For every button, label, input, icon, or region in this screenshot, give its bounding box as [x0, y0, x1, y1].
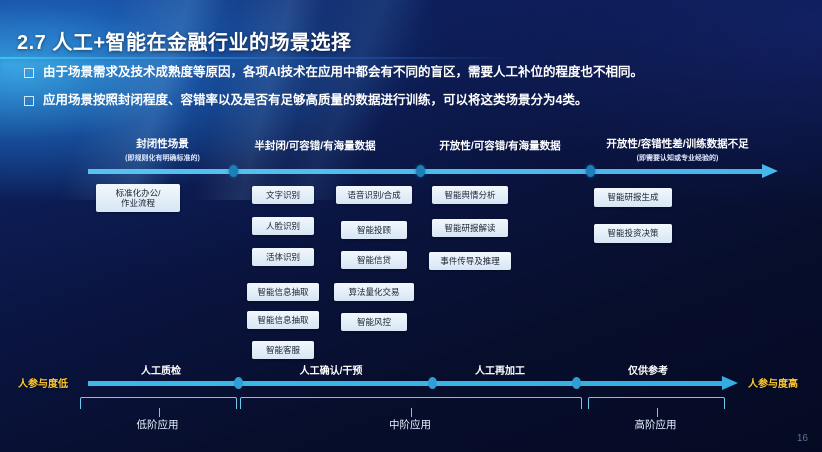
bullet-item: 应用场景按照封闭程度、容错率以及是否有足够高质量的数据进行训练，可以将这类场景分…	[22, 92, 812, 108]
scenario-chip-label: 活体识别	[266, 252, 300, 263]
column-header-title: 开放性/可容错/有海量数据	[410, 138, 590, 153]
scenario-chip[interactable]: 智能风控	[341, 313, 407, 331]
arrow-head-icon	[762, 164, 778, 178]
scenario-chip-label: 智能研报生成	[607, 192, 658, 203]
scenario-chip-label: 算法量化交易	[348, 287, 399, 298]
scenario-chip[interactable]: 活体识别	[252, 248, 314, 266]
tier-brace	[588, 397, 725, 409]
scenario-chip-label: 智能研报解读	[444, 223, 495, 234]
bullet-square-icon	[24, 96, 34, 106]
scenario-chip-label: 文字识别	[266, 190, 300, 201]
scenario-chip[interactable]: 智能信息抽取	[247, 311, 319, 329]
column-header-closed: 封闭性场景 (即规则化有明确标准的)	[95, 136, 230, 163]
tier-brace	[240, 397, 582, 409]
stage-label: 人工质检	[88, 362, 234, 377]
bullet-square-icon	[24, 68, 34, 78]
scenario-chip-label: 智能信贷	[357, 255, 391, 266]
scenario-chip[interactable]: 智能投资决策	[594, 224, 672, 243]
axis-divider-dot	[572, 377, 581, 389]
axis-label-high: 人参与度高	[748, 375, 798, 390]
scenario-chip[interactable]: 算法量化交易	[334, 283, 414, 301]
axis-divider-dot	[234, 377, 243, 389]
scenario-chip[interactable]: 智能投顾	[341, 221, 407, 239]
axis-divider-dot	[428, 377, 437, 389]
tier-brace-stem	[657, 408, 658, 417]
column-header-open-intolerant: 开放性/容错性差/训练数据不足 (即需要认知或专业经验的)	[570, 136, 785, 163]
scenario-chip[interactable]: 人脸识别	[252, 217, 314, 235]
column-header-title: 半封闭/可容错/有海量数据	[225, 138, 405, 153]
page-title: 2.7 人工+智能在金融行业的场景选择	[17, 26, 352, 55]
scenario-chip[interactable]: 文字识别	[252, 186, 314, 204]
scenario-chip[interactable]: 智能信息抽取	[247, 283, 319, 301]
scenario-chip-label: 人脸识别	[266, 221, 300, 232]
scenario-chip[interactable]: 智能研报解读	[432, 219, 508, 237]
arrow-divider-dot	[586, 165, 595, 177]
bullet-item: 由于场景需求及技术成熟度等原因，各项AI技术在应用中都会有不同的盲区，需要人工补…	[22, 64, 812, 80]
scenario-chip[interactable]: 语音识别/合成	[336, 186, 412, 204]
bullet-list: 由于场景需求及技术成熟度等原因，各项AI技术在应用中都会有不同的盲区，需要人工补…	[22, 64, 812, 120]
tier-brace	[80, 397, 237, 409]
stage-label: 仅供参考	[572, 362, 724, 377]
scenario-chip[interactable]: 标准化办公/作业流程	[96, 184, 180, 212]
axis-arrow-head-icon	[722, 376, 738, 390]
scenario-openness-arrow	[88, 167, 788, 175]
tier-brace-stem	[411, 408, 412, 417]
scenario-chip[interactable]: 智能客服	[252, 341, 314, 359]
scenario-chip-label: 标准化办公/作业流程	[116, 188, 161, 208]
column-header-semi-closed: 半封闭/可容错/有海量数据	[225, 138, 405, 153]
scenario-chip-label: 事件传导及推理	[440, 256, 500, 267]
bullet-text: 应用场景按照封闭程度、容错率以及是否有足够高质量的数据进行训练，可以将这类场景分…	[43, 92, 587, 108]
scenario-chip[interactable]: 智能舆情分析	[432, 186, 508, 204]
scenario-chip-label: 智能客服	[266, 345, 300, 356]
bullet-text: 由于场景需求及技术成熟度等原因，各项AI技术在应用中都会有不同的盲区，需要人工补…	[43, 64, 643, 80]
scenario-chip[interactable]: 事件传导及推理	[429, 252, 511, 270]
scenario-chip-label: 智能风控	[357, 317, 391, 328]
tier-brace-stem	[159, 408, 160, 417]
scenario-chip-label: 智能舆情分析	[444, 190, 495, 201]
column-header-title: 开放性/容错性差/训练数据不足	[570, 136, 785, 151]
stage-label: 人工再加工	[428, 362, 572, 377]
slide-canvas: 2.7 人工+智能在金融行业的场景选择 由于场景需求及技术成熟度等原因，各项AI…	[0, 0, 822, 452]
page-number: 16	[797, 433, 808, 444]
scenario-chip-label: 智能投资决策	[607, 228, 658, 239]
scenario-chip[interactable]: 智能信贷	[341, 251, 407, 269]
stage-label: 人工确认/干预	[234, 362, 428, 377]
human-involvement-axis	[88, 379, 748, 387]
tier-label: 中阶应用	[240, 417, 580, 432]
column-header-open-tolerant: 开放性/可容错/有海量数据	[410, 138, 590, 153]
column-header-title: 封闭性场景	[95, 136, 230, 151]
scenario-chip-label: 智能信息抽取	[257, 315, 308, 326]
column-header-subtitle: (即需要认知或专业经验的)	[570, 153, 785, 163]
scenario-chip-label: 智能投顾	[357, 225, 391, 236]
column-header-subtitle: (即规则化有明确标准的)	[95, 153, 230, 163]
tier-label: 高阶应用	[588, 417, 723, 432]
scenario-chip-label: 语音识别/合成	[347, 190, 400, 201]
axis-bar	[88, 381, 724, 386]
axis-label-low: 人参与度低	[18, 375, 68, 390]
scenario-chip[interactable]: 智能研报生成	[594, 188, 672, 207]
arrow-divider-dot	[229, 165, 238, 177]
arrow-divider-dot	[416, 165, 425, 177]
arrow-bar	[88, 169, 764, 174]
tier-label: 低阶应用	[80, 417, 235, 432]
scenario-chip-label: 智能信息抽取	[257, 287, 308, 298]
